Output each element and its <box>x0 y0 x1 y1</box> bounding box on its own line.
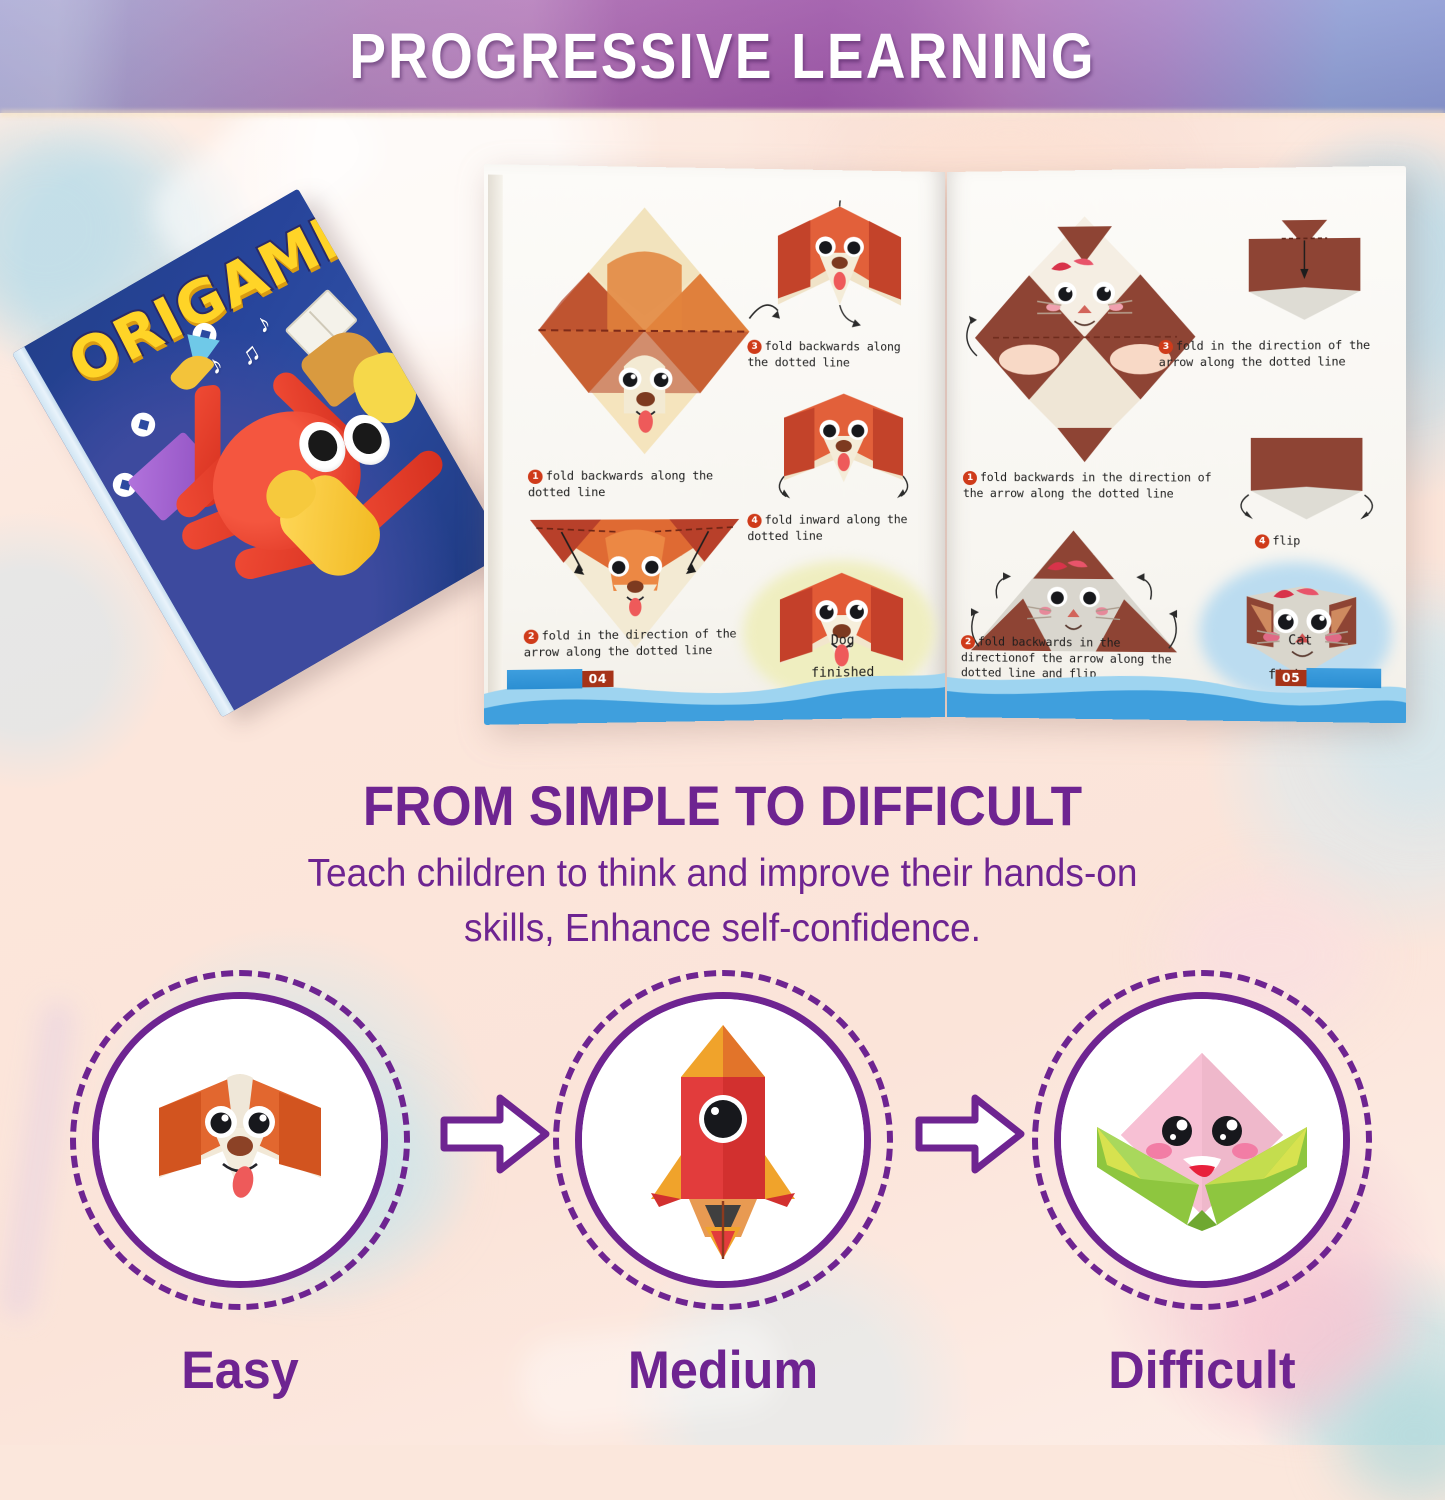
step-number-badge: 1 <box>528 470 543 484</box>
step-label: fold backwards in the direction of the a… <box>963 470 1211 500</box>
header-banner: PROGRESSIVE LEARNING <box>0 0 1445 113</box>
right-page-number: 05 <box>1276 668 1381 689</box>
cat-step-3-text: 3fold in the direction of the arrow alon… <box>1159 338 1390 371</box>
cover-dot-icon-2 <box>127 408 160 441</box>
page-number-badge: 05 <box>1276 669 1307 686</box>
cat-diagram-step3 <box>1222 215 1387 328</box>
dog-step-4-text: 4fold inward along the dotted line <box>747 512 929 544</box>
origami-dog-figure <box>99 999 381 1281</box>
book-right-page: 1fold backwards in the direction of the … <box>947 166 1406 724</box>
music-note-icon-2: ♫ <box>235 338 265 370</box>
arrow-medium-to-difficult <box>915 1090 1027 1178</box>
origami-book-cover: ORIGAMI ♪ ♫ ♪ <box>40 205 510 705</box>
left-page-wave <box>484 653 945 725</box>
level-label-easy: Easy <box>69 1340 411 1401</box>
music-note-icon-3: ♪ <box>251 309 275 338</box>
arrow-easy-to-medium <box>440 1090 552 1178</box>
dog-step-3-text: 3fold backwards along the dotted line <box>747 339 925 371</box>
dog-diagram-step4 <box>755 383 932 504</box>
cat-diagram-diamond <box>969 209 1202 462</box>
level-label-medium: Medium <box>552 1340 894 1401</box>
origami-rocket-figure <box>582 999 864 1281</box>
step-label: fold in the direction of the arrow along… <box>1159 338 1370 369</box>
dog-model-name: Dog <box>782 632 903 649</box>
page-number-badge: 04 <box>582 670 613 687</box>
level-label-difficult: Difficult <box>1031 1340 1373 1401</box>
cat-step-4-text: 4flip <box>1255 533 1379 550</box>
dog-step-1-text: 1fold backwards along the dotted line <box>528 468 745 500</box>
level-card-difficult[interactable] <box>1032 970 1372 1310</box>
step-label: flip <box>1272 533 1300 547</box>
section-subheading: Teach children to think and improve thei… <box>188 846 1257 957</box>
difficulty-levels-row <box>0 960 1445 1360</box>
step-number-badge: 3 <box>747 340 761 354</box>
dog-diagram-diamond <box>534 202 753 458</box>
open-origami-book: 1fold backwards along the dotted line <box>495 172 1400 717</box>
step-number-badge: 4 <box>747 514 761 528</box>
cat-diagram-step4 <box>1224 417 1389 529</box>
step-number-badge: 4 <box>1255 534 1269 548</box>
page-title: PROGRESSIVE LEARNING <box>101 0 1344 113</box>
dog-diagram-step3 <box>751 199 928 332</box>
step-number-badge: 2 <box>961 635 975 649</box>
origami-flower-figure <box>1061 999 1343 1281</box>
step-label: fold inward along the dotted line <box>747 512 907 543</box>
page-number-bar <box>507 669 582 690</box>
step-label: fold backwards along the dotted line <box>528 468 713 499</box>
left-page-edge <box>488 175 503 710</box>
step-label: fold backwards along the dotted line <box>747 339 900 369</box>
left-page-number: 04 <box>507 669 613 690</box>
step-number-badge: 2 <box>524 630 539 645</box>
level-card-easy[interactable] <box>70 970 410 1310</box>
section-heading: FROM SIMPLE TO DIFFICULT <box>58 773 1387 838</box>
book-left-page: 1fold backwards along the dotted line <box>484 164 945 725</box>
level-card-medium[interactable] <box>553 970 893 1310</box>
cat-step-1-text: 1fold backwards in the direction of the … <box>963 470 1214 502</box>
right-page-wave <box>947 653 1406 723</box>
page-number-bar <box>1306 668 1381 688</box>
book-cover-artwork: ORIGAMI ♪ ♫ ♪ <box>24 189 508 711</box>
cat-step1-arrow-left <box>957 312 983 364</box>
book-cover-card: ORIGAMI ♪ ♫ ♪ <box>12 189 508 718</box>
subheading-line-1: Teach children to think and improve thei… <box>307 852 1137 895</box>
subheading-line-2: skills, Enhance self-confidence. <box>464 907 981 950</box>
step-number-badge: 3 <box>1159 340 1173 354</box>
cat-model-name: Cat <box>1238 633 1362 649</box>
step-label: fold in the direction of the arrow along… <box>524 626 737 659</box>
step-number-badge: 1 <box>963 471 977 485</box>
